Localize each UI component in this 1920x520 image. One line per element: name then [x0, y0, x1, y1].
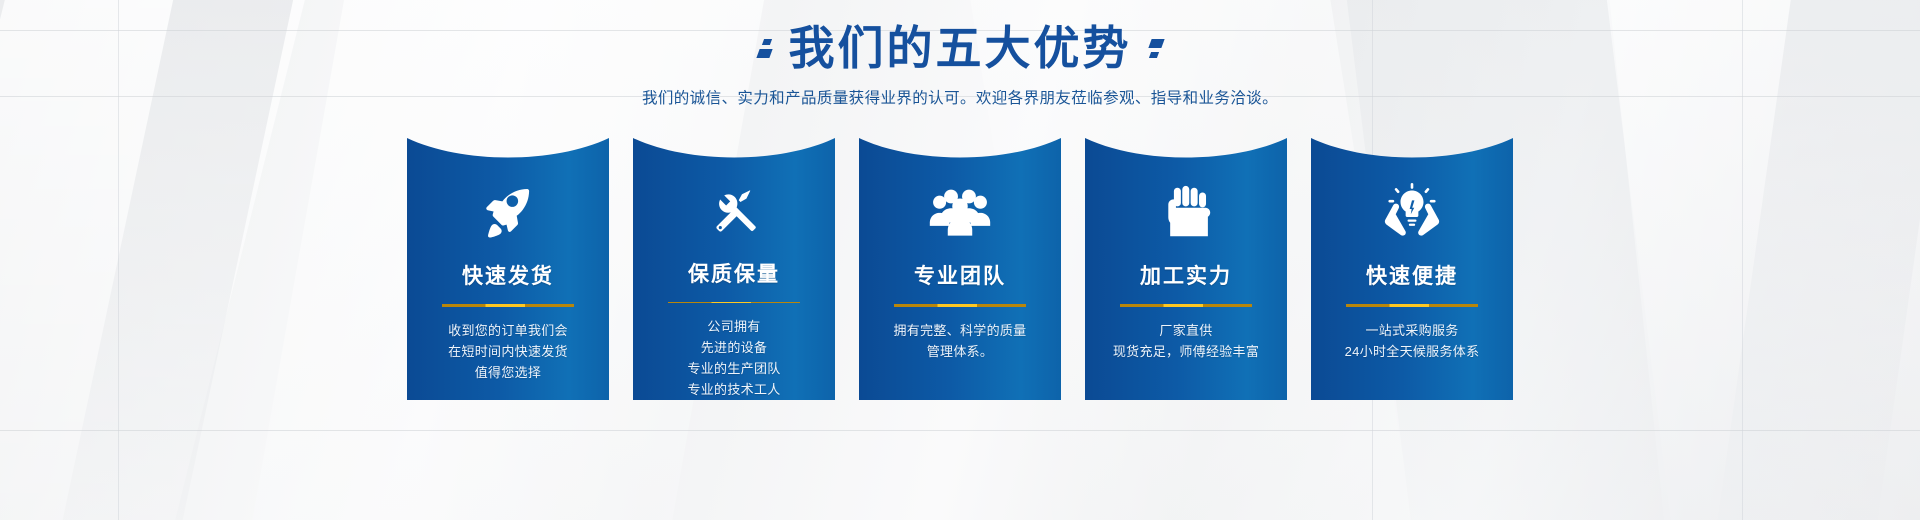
- team-group-icon: [929, 182, 991, 242]
- card-title: 专业团队: [914, 260, 1006, 290]
- card-body-line: 拥有完整、科学的质量: [893, 320, 1026, 341]
- card-body: 公司拥有 先进的设备 专业的生产团队 专业的技术工人: [687, 316, 780, 400]
- bg-line: [0, 430, 1920, 431]
- card-body-line: 厂家直供: [1113, 320, 1259, 341]
- card-body: 拥有完整、科学的质量 管理体系。: [893, 320, 1026, 362]
- card-divider: [894, 304, 1026, 307]
- card-divider: [668, 302, 800, 303]
- card-body-line: 在短时间内快速发货: [448, 341, 568, 362]
- card-body: 厂家直供 现货充足，师傅经验丰富: [1113, 320, 1259, 362]
- wrench-screwdriver-icon: [705, 182, 763, 240]
- card-body-line: 收到您的订单我们会: [448, 320, 568, 341]
- advantage-card[interactable]: 快速便捷 一站式采购服务 24小时全天候服务体系: [1311, 138, 1513, 400]
- fist-icon: [1159, 182, 1213, 242]
- section-header: 我们的五大优势 我们的诚信、实力和产品质量获得业界的认可。欢迎各界朋友莅临参观、…: [0, 0, 1920, 108]
- card-title: 快速发货: [462, 260, 554, 290]
- page-subtitle: 我们的诚信、实力和产品质量获得业界的认可。欢迎各界朋友莅临参观、指导和业务洽谈。: [0, 86, 1920, 108]
- advantage-card-list: 快速发货 收到您的订单我们会 在短时间内快速发货 值得您选择: [0, 138, 1920, 400]
- card-body-line: 公司拥有: [687, 316, 780, 337]
- card-body: 一站式采购服务 24小时全天候服务体系: [1345, 320, 1480, 362]
- card-body-line: 现货充足，师傅经验丰富: [1113, 341, 1259, 362]
- title-row: 我们的五大优势: [0, 18, 1920, 78]
- card-body-line: 专业的生产团队: [687, 358, 780, 379]
- diamond-cluster-icon: [1150, 39, 1163, 58]
- card-divider: [442, 304, 574, 307]
- page-title: 我们的五大优势: [789, 25, 1132, 71]
- card-body-line: 管理体系。: [893, 341, 1026, 362]
- page-background: 我们的五大优势 我们的诚信、实力和产品质量获得业界的认可。欢迎各界朋友莅临参观、…: [0, 0, 1920, 520]
- card-title: 快速便捷: [1366, 260, 1458, 290]
- diamond-cluster-icon: [758, 39, 771, 58]
- card-body-line: 先进的设备: [687, 337, 780, 358]
- advantage-card[interactable]: 保质保量 公司拥有 先进的设备 专业的生产团队 专业的技术工人: [633, 138, 835, 400]
- rocket-icon: [479, 182, 537, 242]
- card-title: 保质保量: [688, 258, 780, 288]
- card-body-line: 专业的技术工人: [687, 379, 780, 400]
- advantage-card[interactable]: 快速发货 收到您的订单我们会 在短时间内快速发货 值得您选择: [407, 138, 609, 400]
- card-divider: [1346, 304, 1478, 307]
- advantage-card[interactable]: 加工实力 厂家直供 现货充足，师傅经验丰富: [1085, 138, 1287, 400]
- card-body-line: 值得您选择: [448, 362, 568, 383]
- hands-lightbulb-icon: [1382, 182, 1442, 242]
- card-divider: [1120, 304, 1252, 307]
- card-body-line: 24小时全天候服务体系: [1345, 341, 1480, 362]
- advantage-card[interactable]: 专业团队 拥有完整、科学的质量 管理体系。: [859, 138, 1061, 400]
- card-body-line: 一站式采购服务: [1345, 320, 1480, 341]
- card-title: 加工实力: [1140, 260, 1232, 290]
- card-body: 收到您的订单我们会 在短时间内快速发货 值得您选择: [448, 320, 568, 383]
